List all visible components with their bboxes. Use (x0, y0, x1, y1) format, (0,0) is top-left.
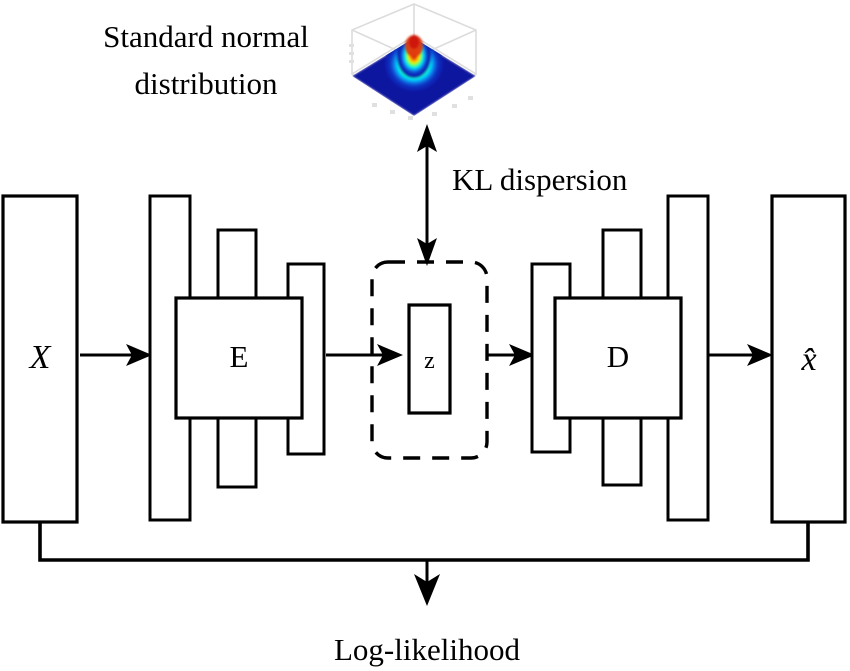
kl-dispersion-label: KL dispersion (452, 162, 628, 197)
log-likelihood-label: Log-likelihood (334, 632, 520, 667)
input-label: X (28, 339, 52, 376)
standard-normal-label-line2: distribution (135, 66, 278, 101)
arrow-latent-to-decoder (487, 344, 535, 366)
latent-label: z (424, 348, 435, 374)
log-likelihood-bracket (40, 522, 808, 606)
output-label: x̂ (800, 341, 816, 378)
gaussian-peak (405, 35, 423, 57)
standard-normal-3d-surface (349, 4, 476, 120)
decoder-label: D (607, 339, 629, 374)
vae-architecture-diagram: Standard normal distribution (0, 0, 850, 671)
arrow-encoder-to-latent (326, 344, 403, 366)
arrow-decoder-to-output (708, 344, 773, 366)
diagram-canvas: Standard normal distribution (0, 0, 850, 671)
standard-normal-label-line1: Standard normal (103, 19, 309, 54)
encoder-label: E (230, 339, 249, 374)
arrow-kl-bidirectional (417, 124, 437, 266)
arrow-input-to-encoder (80, 344, 152, 366)
